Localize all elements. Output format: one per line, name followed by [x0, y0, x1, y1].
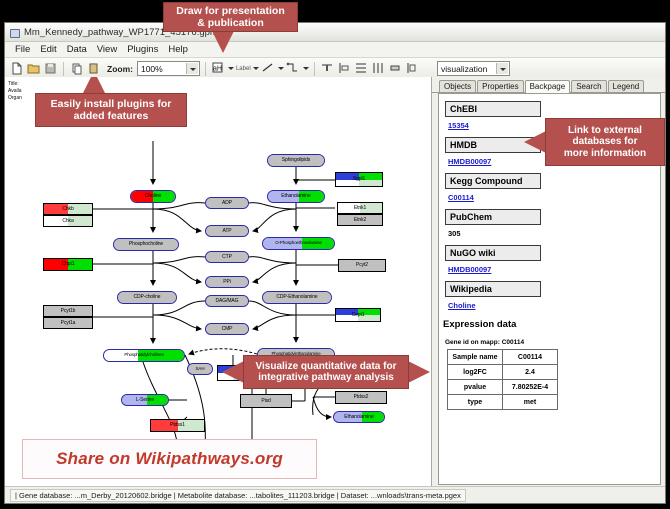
pathway-node-etnk1[interactable]: Etnk1: [337, 202, 383, 214]
pathway-node-pisd[interactable]: Pisd: [240, 394, 292, 408]
exp-label-sample: Sample name: [448, 350, 503, 365]
menu-item-file[interactable]: File: [10, 44, 35, 55]
exp-value-log2fc: 2.4: [503, 365, 558, 380]
menu-item-data[interactable]: Data: [62, 44, 92, 55]
open-folder-icon[interactable]: [26, 61, 41, 76]
connector-dropdown[interactable]: [286, 61, 309, 76]
node-label: Phosphocholine: [129, 242, 163, 247]
line-dropdown[interactable]: [261, 61, 284, 76]
toolbar-separator: [63, 62, 64, 76]
exp-value-type: met: [503, 395, 558, 410]
expression-table: Sample name C00114 log2FC 2.4 pvalue 7.8…: [447, 349, 558, 410]
pathway-canvas[interactable]: Title: Availa Organ: [5, 77, 432, 487]
pathway-node-l-serine-left[interactable]: L-Serine: [121, 394, 169, 406]
zoom-label: Zoom:: [107, 64, 133, 74]
pathway-node-ethanolamine-right[interactable]: Ethanolamine: [333, 411, 385, 423]
callout-draw-arrow: [212, 31, 234, 53]
callout-visualize-text: Visualize quantitative data forintegrati…: [256, 361, 397, 384]
table-row: type met: [448, 395, 558, 410]
pathway-node-ptdss2[interactable]: Ptdss2: [335, 391, 387, 404]
common-width-icon[interactable]: [388, 61, 403, 76]
exp-value-pvalue: 7.80252E-4: [503, 380, 558, 395]
status-text: | Gene database: ...m_Derby_20120602.bri…: [10, 489, 466, 502]
zoom-combo[interactable]: 100%: [137, 61, 200, 76]
pathway-node-chkb[interactable]: Chkb: [43, 203, 93, 215]
pathway-node-ethanolamine-top[interactable]: Ethanolamine: [267, 190, 325, 203]
visualization-combo[interactable]: visualization: [437, 61, 510, 76]
node-label: SAH: [196, 367, 205, 372]
pathway-node-cept1[interactable]: Cept1: [335, 308, 381, 322]
chevron-down-icon-4[interactable]: [278, 67, 284, 70]
callout-plugins-text: Easily install plugins foradded features: [51, 98, 172, 122]
callout-draw-text: Draw for presentation& publication: [176, 5, 285, 29]
pathway-node-choline-top[interactable]: Choline: [130, 190, 176, 203]
menu-bar: File Edit Data View Plugins Help: [5, 42, 665, 58]
toolbar-separator-2: [205, 62, 206, 76]
exp-value-sample: C00114: [503, 350, 558, 365]
pathway-node-phosphocholine[interactable]: Phosphocholine: [113, 238, 179, 251]
node-label: Cept1: [352, 313, 365, 318]
text-format-icon[interactable]: aH: [211, 61, 226, 76]
node-label: ATP: [222, 229, 231, 234]
node-label: Ethanolamine: [344, 415, 373, 420]
expression-data-title: Expression data: [443, 319, 660, 330]
node-label: Ethanolamine: [281, 194, 310, 199]
callout-plugins: Easily install plugins foradded features: [35, 93, 187, 127]
node-label: Sphingolipids: [282, 158, 310, 163]
table-row: Sample name C00114: [448, 350, 558, 365]
title-bar: Mm_Kennedy_pathway_WP1771_45176.gpml: [5, 23, 665, 42]
share-banner-text: Share on Wikipathways.org: [56, 449, 283, 469]
db-value-pubchem: 305: [448, 229, 660, 238]
exp-label-type: type: [448, 395, 503, 410]
pathway-node-sgpl1[interactable]: Sgpl1: [335, 172, 383, 187]
pathway-node-sah[interactable]: SAH: [187, 363, 213, 375]
align-top-icon[interactable]: [320, 61, 335, 76]
pathway-node-o-phosphoethanolamine[interactable]: O-Phosphoethanolamine: [262, 237, 335, 250]
db-link-wikipedia[interactable]: Choline: [448, 301, 660, 310]
connector-icon[interactable]: [286, 61, 301, 76]
pathway-node-cmp[interactable]: CMP: [205, 323, 249, 335]
node-label: Pcyt1b: [61, 309, 76, 314]
gene-id-line: Gene id on mapp: C00114: [445, 339, 660, 346]
app-window-icon: [9, 27, 20, 38]
callout-draw: Draw for presentation& publication: [163, 2, 298, 32]
table-row: pvalue 7.80252E-4: [448, 380, 558, 395]
node-label: Etnk2: [354, 218, 366, 223]
pathway-node-ctp[interactable]: CTP: [205, 251, 249, 263]
pathway-node-adp[interactable]: ADP: [205, 197, 249, 209]
save-icon[interactable]: [43, 61, 58, 76]
node-label: Pcyt2: [356, 263, 368, 268]
node-label: ADP: [222, 201, 232, 206]
db-header-kegg: Kegg Compound: [445, 173, 541, 189]
node-label: Chkb: [62, 207, 73, 212]
pathway-node-chka[interactable]: Chka: [43, 215, 93, 227]
callout-visualize-arrow-left: [222, 361, 244, 383]
node-label: Pisd: [261, 399, 270, 404]
paste-icon[interactable]: [86, 61, 101, 76]
svg-text:aH: aH: [213, 66, 222, 73]
pathway-node-phosphatidylcholines[interactable]: Phosphatidylcholines: [103, 349, 185, 362]
pathway-node-pcyt1a[interactable]: Pcyt1a: [43, 317, 93, 329]
pathway-node-chpt1[interactable]: Chpt1: [43, 258, 93, 271]
node-label: Chpt1: [62, 262, 75, 267]
exp-label-log2fc: log2FC: [448, 365, 503, 380]
node-label: CDP-Ethanolamine: [276, 295, 317, 300]
pathvisio-window: Mm_Kennedy_pathway_WP1771_45176.gpml Fil…: [4, 22, 666, 504]
node-label: Pcyt1a: [61, 321, 76, 326]
copy-icon[interactable]: [69, 61, 84, 76]
db-header-pubchem: PubChem: [445, 209, 541, 225]
db-link-nugo[interactable]: HMDB00097: [448, 265, 660, 274]
pathway-node-dag-mag[interactable]: DAG/MAG: [205, 295, 249, 307]
label-button-text: Label: [236, 66, 251, 72]
screenshot-root: Mm_Kennedy_pathway_WP1771_45176.gpml Fil…: [0, 0, 670, 509]
node-label: PPi: [223, 280, 230, 285]
share-banner: Share on Wikipathways.org: [22, 439, 317, 479]
line-icon[interactable]: [261, 61, 276, 76]
node-label: Etnk1: [354, 206, 366, 211]
tab-search[interactable]: Search: [571, 80, 606, 92]
callout-links-arrow: [524, 131, 546, 153]
node-label: Phosphatidylcholines: [124, 353, 163, 357]
new-document-icon[interactable]: [9, 61, 24, 76]
node-label: Ptdss2: [354, 395, 369, 400]
menu-item-plugins[interactable]: Plugins: [122, 44, 163, 55]
exp-label-pvalue: pvalue: [448, 380, 503, 395]
chevron-down-icon-6[interactable]: [496, 63, 508, 74]
callout-visualize-arrow-right: [408, 361, 430, 383]
tab-properties[interactable]: Properties: [477, 80, 523, 92]
text-format-dropdown[interactable]: aH: [211, 61, 234, 76]
db-header-wikipedia: Wikipedia: [445, 281, 541, 297]
chevron-down-icon[interactable]: [186, 63, 198, 74]
distribute-horizontal-icon[interactable]: [371, 61, 386, 76]
node-label: CDP-choline: [134, 295, 161, 300]
chevron-down-icon-2[interactable]: [228, 67, 234, 70]
pathway-node-atp[interactable]: ATP: [205, 225, 249, 237]
pathway-node-pcyt2[interactable]: Pcyt2: [338, 259, 386, 272]
pathway-node-cdp-ethanolamine[interactable]: CDP-Ethanolamine: [262, 291, 332, 304]
tab-objects[interactable]: Objects: [439, 80, 476, 92]
pathway-node-cdp-choline[interactable]: CDP-choline: [117, 291, 177, 304]
node-label: L-Serine: [136, 398, 154, 403]
node-label: O-Phosphoethanolamine: [275, 241, 321, 245]
node-label: CTP: [222, 255, 232, 260]
tab-backpage[interactable]: Backpage: [525, 80, 571, 93]
node-label: Ptdss1: [170, 423, 185, 428]
menu-item-help[interactable]: Help: [163, 44, 193, 55]
label-dropdown[interactable]: Label: [236, 66, 259, 72]
tab-legend[interactable]: Legend: [608, 80, 645, 92]
pathway-node-etnk2[interactable]: Etnk2: [337, 214, 383, 226]
node-label: Sgpl1: [353, 177, 365, 182]
node-label: Choline: [145, 194, 161, 199]
pathway-node-ptdss1[interactable]: Ptdss1: [150, 419, 205, 432]
db-header-nugo: NuGO wiki: [445, 245, 541, 261]
toolbar-separator-3: [314, 62, 315, 76]
zoom-value: 100%: [141, 64, 163, 74]
visualization-value: visualization: [441, 64, 487, 74]
chevron-down-icon-3[interactable]: [253, 67, 259, 70]
node-label: CMP: [222, 327, 233, 332]
node-label: Chka: [62, 219, 73, 224]
pathway-node-pcyt1b[interactable]: Pcyt1b: [43, 305, 93, 317]
chevron-down-icon-5[interactable]: [303, 67, 309, 70]
callout-visualize: Visualize quantitative data forintegrati…: [243, 355, 409, 389]
pathway-node-ppi[interactable]: PPi: [205, 276, 249, 288]
callout-plugins-arrow: [83, 77, 105, 93]
callout-links: Link to externaldatabases formore inform…: [545, 118, 665, 166]
distribute-vertical-icon[interactable]: [354, 61, 369, 76]
menu-item-view[interactable]: View: [92, 44, 122, 55]
panel-tabs: Objects Properties Backpage Search Legen…: [432, 77, 665, 93]
table-row: log2FC 2.4: [448, 365, 558, 380]
db-header-chebi: ChEBI: [445, 101, 541, 117]
status-bar: | Gene database: ...m_Derby_20120602.bri…: [5, 486, 665, 503]
stack-icon[interactable]: [405, 61, 420, 76]
callout-links-text: Link to externaldatabases formore inform…: [564, 125, 646, 160]
pathway-node-sphingolipids[interactable]: Sphingolipids: [267, 154, 325, 167]
db-link-kegg[interactable]: C00114: [448, 193, 660, 202]
align-left-icon[interactable]: [337, 61, 352, 76]
pathway-drawing[interactable]: Title: Availa Organ: [5, 77, 431, 486]
menu-item-edit[interactable]: Edit: [35, 44, 61, 55]
node-label: DAG/MAG: [216, 299, 239, 304]
